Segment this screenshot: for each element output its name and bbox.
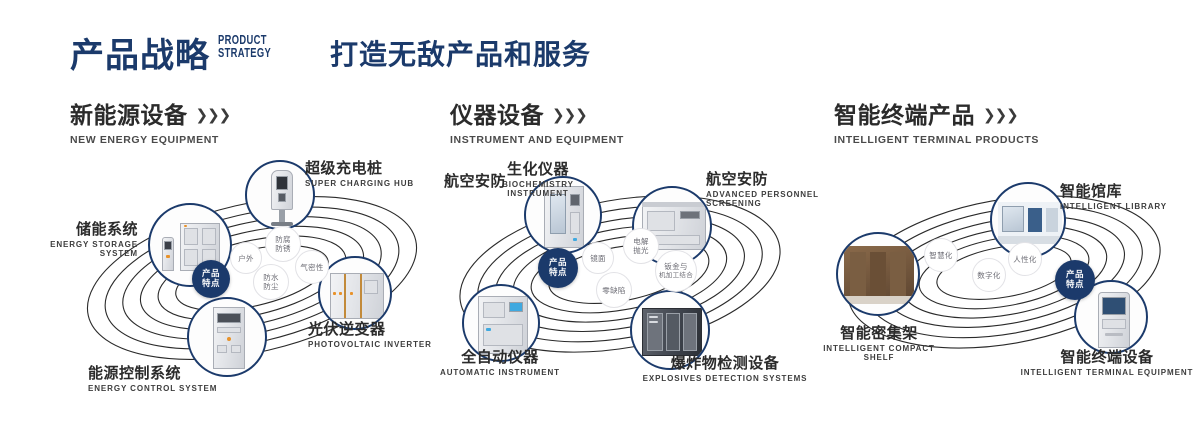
core-bubble-product-features: 产品 特点: [1055, 260, 1095, 300]
caption-en: INTELLIGENT TERMINAL EQUIPMENT: [1002, 368, 1200, 377]
caption-en: AUTOMATIC INSTRUMENT: [410, 368, 590, 377]
feature-bubble-line1: 数字化: [977, 271, 1000, 280]
feature-bubble-line1: 零缺陷: [602, 286, 625, 295]
feature-bubble-line1: 气密性: [300, 263, 323, 272]
caption-cn: 智能馆库: [1060, 180, 1200, 201]
caption-en: ENERGY STORAGE SYSTEM: [0, 240, 138, 258]
caption-cn: 智能密集架: [784, 322, 974, 343]
caption-cn: 智能终端设备: [1002, 346, 1200, 367]
caption-en: INTELLIGENT COMPACT SHELF: [784, 344, 974, 362]
caption-energy-control-system: 能源控制系统 ENERGY CONTROL SYSTEM: [88, 362, 318, 393]
feature-bubble-smart: 智慧化: [924, 238, 958, 272]
caption-en-line1: ENERGY STORAGE: [0, 240, 138, 249]
section-title-en: INSTRUMENT AND EQUIPMENT: [450, 134, 624, 146]
page-header: 产品战略 PRODUCT STRATEGY 打造无敌产品和服务: [0, 0, 1200, 86]
caption-en-line1: INTELLIGENT COMPACT: [784, 344, 974, 353]
core-bubble-line1: 产品: [549, 258, 567, 268]
page-title-en-line2: STRATEGY: [218, 46, 271, 59]
feature-bubble-humanized: 人性化: [1008, 242, 1042, 276]
caption-cn: 全自动仪器: [410, 346, 590, 367]
page-title: 产品战略: [70, 28, 210, 77]
product-strategy-infographic: 产品战略 PRODUCT STRATEGY 打造无敌产品和服务 新能源设备❯❯❯…: [0, 0, 1200, 422]
feature-bubble-digital: 数字化: [972, 258, 1006, 292]
page-subtitle: 打造无敌产品和服务: [330, 33, 591, 73]
caption-en: ENERGY CONTROL SYSTEM: [88, 384, 318, 393]
compact-shelf-icon: [838, 234, 918, 314]
feature-bubble-line1: 人性化: [1013, 255, 1036, 264]
chevrons-right-icon: ❯❯❯: [196, 106, 231, 124]
page-title-english: PRODUCT STRATEGY: [218, 33, 271, 59]
feature-bubble-mirror-finish: 镜面: [582, 242, 614, 274]
feature-bubble-line1: 防腐: [275, 235, 291, 244]
caption-en-line2: SHELF: [784, 353, 974, 362]
caption-intelligent-terminal-equipment: 智能终端设备 INTELLIGENT TERMINAL EQUIPMENT: [1002, 346, 1200, 377]
caption-energy-storage-system: 储能系统 ENERGY STORAGE SYSTEM: [0, 218, 138, 258]
section-title-cn-text: 仪器设备: [450, 103, 544, 129]
feature-bubble-electropolishing: 电解 抛光: [623, 228, 659, 264]
section-title-en: INTELLIGENT TERMINAL PRODUCTS: [834, 134, 1039, 146]
core-bubble-line1: 产品: [1066, 270, 1084, 280]
section-title-en: NEW ENERGY EQUIPMENT: [70, 134, 230, 146]
section-title-cn: 仪器设备❯❯❯: [450, 96, 624, 130]
section-title-cn-text: 智能终端产品: [834, 103, 975, 129]
section-title-new-energy: 新能源设备❯❯❯ NEW ENERGY EQUIPMENT: [70, 96, 230, 146]
core-bubble-line2: 特点: [202, 279, 220, 289]
feature-bubble-line2: 防锈: [275, 244, 291, 253]
cluster-intelligent-terminal: 智能馆库 INTELLIGENT LIBRARY 智能密集架 INTELLIGE…: [812, 150, 1200, 400]
feature-bubble-line1: 镜面: [590, 254, 606, 263]
caption-en: INTELLIGENT LIBRARY: [1060, 202, 1200, 211]
caption-cn: 储能系统: [0, 218, 138, 239]
feature-bubble-anticorrosion: 防腐 防锈: [265, 226, 301, 262]
caption-aviation-security-left: 航空安防: [394, 170, 506, 191]
section-title-cn: 智能终端产品❯❯❯: [834, 96, 1039, 130]
feature-bubble-line2: 机加工结合: [659, 271, 693, 280]
core-bubble-line2: 特点: [549, 268, 567, 278]
feature-bubble-line1: 防水: [263, 273, 279, 282]
core-bubble-line2: 特点: [1066, 280, 1084, 290]
feature-bubble-line1: 户外: [238, 254, 254, 263]
feature-bubble-line2: 抛光: [633, 246, 649, 255]
caption-intelligent-compact-shelf: 智能密集架 INTELLIGENT COMPACT SHELF: [784, 322, 974, 362]
caption-en: EXPLOSIVES DETECTION SYSTEMS: [605, 374, 845, 383]
caption-cn: 航空安防: [394, 170, 506, 191]
cluster-instrument: 生化仪器 BIOCHEMISTRY INSTRUMENT 航空安防 航空安防 A…: [420, 150, 820, 400]
core-bubble-line1: 产品: [202, 269, 220, 279]
section-title-instrument: 仪器设备❯❯❯ INSTRUMENT AND EQUIPMENT: [450, 96, 624, 146]
caption-intelligent-library: 智能馆库 INTELLIGENT LIBRARY: [1060, 180, 1200, 211]
charging-pile-icon: [247, 162, 313, 228]
feature-bubble-line2: 防尘: [263, 282, 279, 291]
feature-bubble-zero-defect: 零缺陷: [596, 272, 632, 308]
chevrons-right-icon: ❯❯❯: [983, 106, 1018, 124]
core-bubble-product-features: 产品 特点: [538, 248, 578, 288]
feature-bubble-airtightness: 气密性: [295, 250, 329, 284]
feature-bubble-waterproof-dustproof: 防水 防尘: [253, 264, 289, 300]
feature-bubble-line1: 智慧化: [929, 251, 952, 260]
chevrons-right-icon: ❯❯❯: [552, 106, 587, 124]
feature-bubble-sheetmetal-machining: 钣金与 机加工结合: [655, 250, 697, 292]
section-title-intelligent-terminal: 智能终端产品❯❯❯ INTELLIGENT TERMINAL PRODUCTS: [834, 96, 1039, 146]
caption-cn: 能源控制系统: [88, 362, 318, 383]
section-title-cn-text: 新能源设备: [70, 103, 188, 129]
section-title-cn: 新能源设备❯❯❯: [70, 96, 230, 130]
feature-bubble-line1: 钣金与: [664, 262, 687, 271]
core-bubble-product-features: 产品 特点: [192, 260, 230, 298]
caption-automatic-instrument: 全自动仪器 AUTOMATIC INSTRUMENT: [410, 346, 590, 377]
caption-en-line2: SYSTEM: [0, 249, 138, 258]
feature-bubble-line1: 电解: [633, 237, 649, 246]
node-intelligent-compact-shelf[interactable]: [836, 232, 920, 316]
